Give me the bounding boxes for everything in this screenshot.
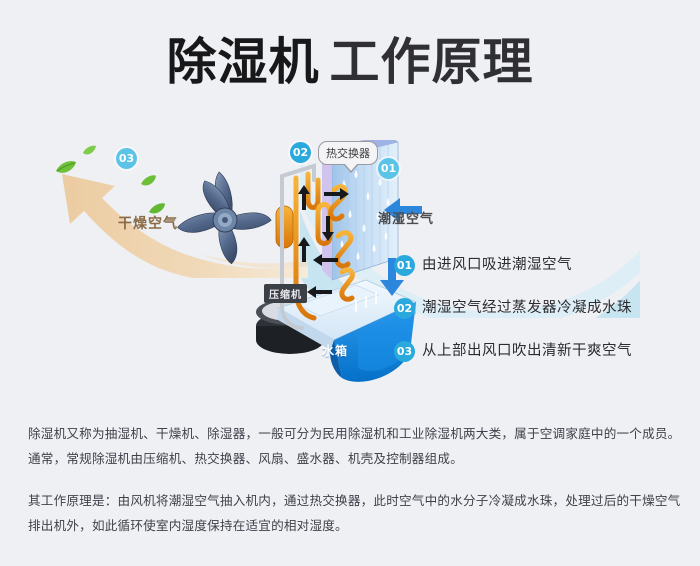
description-copy: 除湿机又称为抽湿机、干燥机、除湿器，一般可分为民用除湿机和工业除湿机两大类，属于…	[28, 421, 678, 538]
heat-exchanger-callout: 热交换器	[318, 141, 378, 165]
page-title: 除湿机工作原理	[0, 33, 700, 91]
dry-air-label: 干燥空气	[118, 213, 178, 233]
legend-text-02: 潮湿空气经过蒸发器冷凝成水珠	[422, 296, 632, 317]
legend-badge-01: 01	[394, 255, 415, 276]
legend-item-03: 03 从上部出风口吹出清新干爽空气	[390, 338, 690, 381]
leaf-icon	[55, 160, 77, 176]
dehumidifier-infographic: 除湿机工作原理	[0, 0, 700, 566]
diagram-badge-01: 01	[378, 158, 399, 179]
title-part-2: 工作原理	[320, 33, 534, 91]
paragraph-1-line-2: 通常，常规除湿机由压缩机、热交换器、风扇、盛水器、机壳及控制器组成。	[28, 446, 678, 471]
diagram-badge-03: 03	[116, 148, 137, 169]
legend-item-01: 01 由进风口吸进潮湿空气	[390, 252, 690, 295]
paragraph-2: 其工作原理是：由风机将潮湿空气抽入机内，通过热交换器，此时空气中的水分子冷凝成水…	[28, 488, 678, 538]
water-tank-label: 水箱	[322, 342, 348, 359]
diagram-badge-02: 02	[290, 142, 311, 163]
legend-list: 01 由进风口吸进潮湿空气 02 潮湿空气经过蒸发器冷凝成水珠 03 从上部出风…	[390, 252, 690, 381]
humid-air-label: 潮湿空气	[378, 208, 434, 227]
legend-badge-02: 02	[394, 298, 415, 319]
paragraph-2-line-2: 排出机外，如此循环使室内湿度保持在适宜的相对湿度。	[28, 513, 678, 538]
paragraph-1: 除湿机又称为抽湿机、干燥机、除湿器，一般可分为民用除湿机和工业除湿机两大类，属于…	[28, 421, 678, 471]
paragraph-1-line-1: 除湿机又称为抽湿机、干燥机、除湿器，一般可分为民用除湿机和工业除湿机两大类，属于…	[28, 421, 678, 446]
legend-item-02: 02 潮湿空气经过蒸发器冷凝成水珠	[390, 295, 690, 338]
legend-text-01: 由进风口吸进潮湿空气	[422, 253, 572, 274]
compressor-label: 压缩机	[264, 284, 307, 303]
leaf-icon	[82, 145, 97, 157]
legend-badge-03: 03	[394, 341, 415, 362]
title-part-1: 除湿机	[167, 33, 320, 91]
legend-text-03: 从上部出风口吹出清新干爽空气	[422, 339, 632, 360]
leaf-icon	[140, 174, 157, 188]
paragraph-2-line-1: 其工作原理是：由风机将潮湿空气抽入机内，通过热交换器，此时空气中的水分子冷凝成水…	[28, 488, 678, 513]
